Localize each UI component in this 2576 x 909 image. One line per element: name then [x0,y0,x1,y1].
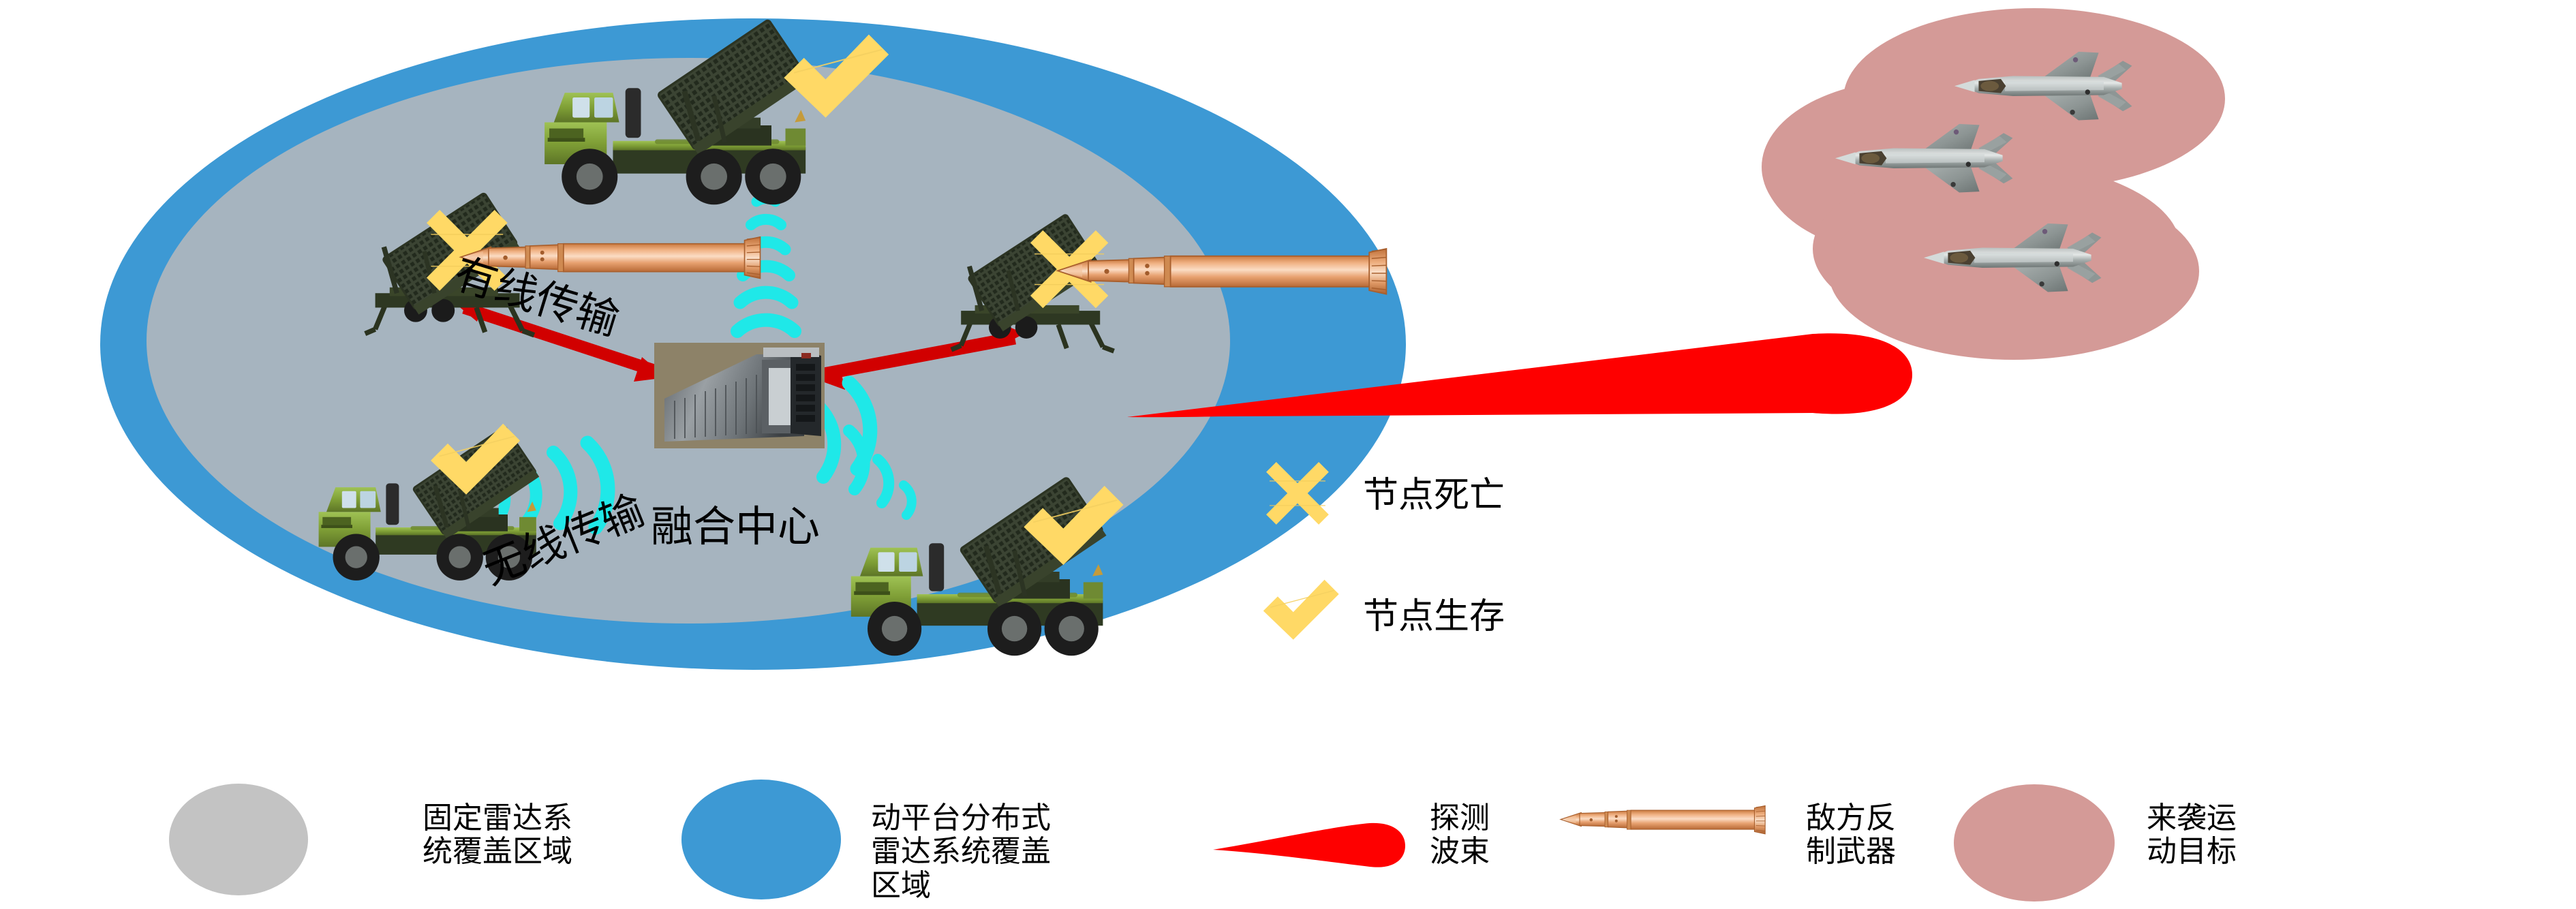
status-key-dead-label: 节点死亡 [1363,466,1505,517]
diagram-svg [0,0,2576,909]
legend-label-detection-beam: 探测波束 [1430,801,1505,869]
legend-swatch-gray-ellipse [169,784,308,895]
diagram-canvas: 有线传输 无线传输 融合中心 节点死亡 节点生存 固定雷达系统覆盖区域 动平台分… [0,0,2576,909]
legend-label-counter-weapon: 敌方反制武器 [1806,801,1908,869]
fusion-center-node[interactable] [654,343,825,448]
status-key-alive-label: 节点生存 [1363,587,1505,638]
legend-swatch-rose-ellipse [1954,784,2115,902]
incoming-target-zone-bottom-main [1828,183,2199,360]
status-key-check-icon [1263,580,1339,640]
legend-label-mobile-coverage: 动平台分布式雷达系统覆盖区域 [871,801,1069,902]
legend-label-fixed-coverage: 固定雷达系统覆盖区域 [423,801,581,869]
legend-swatch-missile [1561,805,1765,833]
legend-swatch-red-beam [1213,823,1405,867]
fusion-center-label: 融合中心 [651,506,820,550]
legend-label-incoming-target: 来袭运动目标 [2147,801,2249,869]
legend-swatch-blue-ellipse [681,780,841,899]
